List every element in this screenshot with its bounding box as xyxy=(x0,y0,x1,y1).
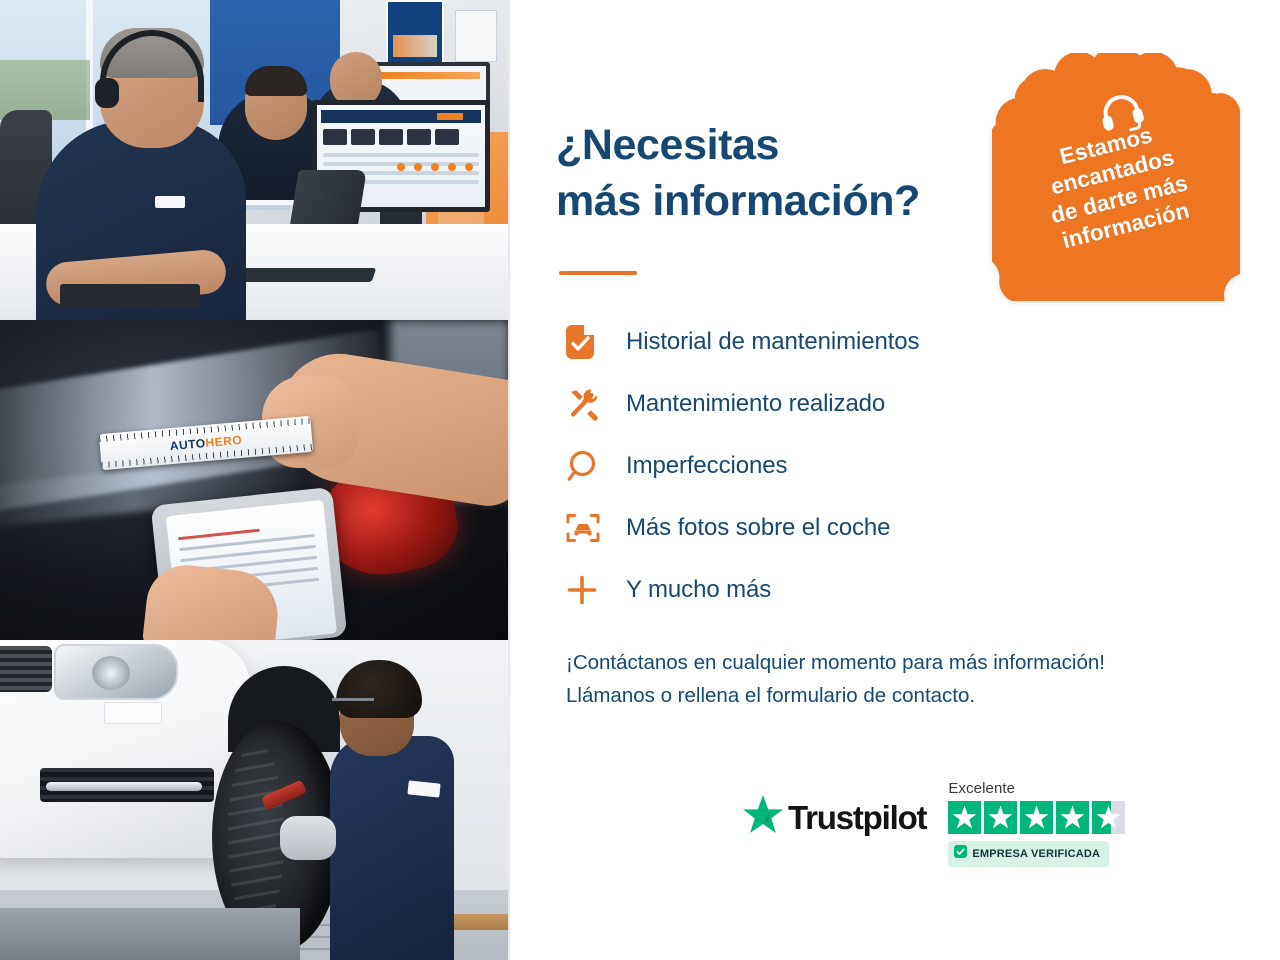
rating-label: Excelente xyxy=(948,780,1015,797)
technician-glasses xyxy=(332,698,374,701)
feature-label: Historial de mantenimientos xyxy=(626,328,919,356)
feature-list: Historial de mantenimientos Mantenimient… xyxy=(566,311,1280,621)
feature-item-maintenance-history: Historial de mantenimientos xyxy=(566,311,1280,373)
feature-item-imperfections: Imperfecciones xyxy=(566,435,1280,497)
photo-car-inspection-ruler: AUTOHERO xyxy=(0,320,510,640)
feature-label: Y mucho más xyxy=(626,576,771,604)
page-title-line-2: más información? xyxy=(556,177,920,225)
trustpilot-wordmark: Trustpilot xyxy=(788,799,926,837)
page-title: ¿Necesitas más información? xyxy=(556,118,996,230)
technician-body xyxy=(330,736,454,960)
trustpilot-logo: Trustpilot xyxy=(742,795,926,840)
screen-icon-row xyxy=(397,163,473,171)
car-headlight xyxy=(54,644,178,700)
car-lift-platform xyxy=(0,908,300,960)
contact-text-line-2: Llámanos o rellena el formulario de cont… xyxy=(566,684,975,707)
wall-poster xyxy=(386,0,444,64)
feature-item-much-more: Y mucho más xyxy=(566,559,1280,621)
wall-notice xyxy=(455,10,497,62)
promo-page: AUTOHERO xyxy=(0,0,1280,960)
contact-text-line-1: ¡Contáctanos en cualquier momento para m… xyxy=(566,651,1105,674)
car-chrome-trim xyxy=(46,782,202,791)
rating-star-5-partial xyxy=(1092,801,1125,834)
star-rating xyxy=(948,801,1125,834)
check-circle-icon xyxy=(954,845,967,863)
starburst-badge: Estamos encantados de darte más informac… xyxy=(992,53,1240,300)
rating-star-3 xyxy=(1020,801,1053,834)
feature-label: Mantenimiento realizado xyxy=(626,390,885,418)
verified-company-label: EMPRESA VERIFICADA xyxy=(972,848,1100,860)
contact-text: ¡Contáctanos en cualquier momento para m… xyxy=(566,646,1280,712)
rating-star-2 xyxy=(984,801,1017,834)
desk-tablet xyxy=(60,284,200,308)
feature-label: Más fotos sobre el coche xyxy=(626,514,890,542)
trustpilot-widget[interactable]: Trustpilot Excelente xyxy=(742,780,1125,867)
rating-star-4 xyxy=(1056,801,1089,834)
car-plate xyxy=(104,702,162,724)
laptop-keyboard xyxy=(230,268,377,282)
car-focus-icon xyxy=(566,508,612,548)
screen-car-thumbnails xyxy=(323,129,459,145)
content-panel: ¿Necesitas más información? Historial de… xyxy=(510,0,1280,960)
magnifier-icon xyxy=(566,446,612,486)
photo-column: AUTOHERO xyxy=(0,0,510,960)
photo-workshop-wheel-change xyxy=(0,640,510,960)
screen-navbar xyxy=(321,110,481,123)
page-title-line-1: ¿Necesitas xyxy=(556,121,779,169)
agent-one-headset-earcup xyxy=(95,78,119,108)
rating-star-1 xyxy=(948,801,981,834)
tools-icon xyxy=(566,384,612,424)
agent-one-name-badge xyxy=(155,196,185,208)
trustpilot-star-icon xyxy=(742,795,784,840)
feature-item-more-photos: Más fotos sobre el coche xyxy=(566,497,1280,559)
document-check-icon xyxy=(566,322,612,362)
title-divider xyxy=(559,271,637,275)
photo-call-center-agents xyxy=(0,0,510,320)
car-grille xyxy=(0,646,52,692)
technician-glove xyxy=(280,816,336,860)
autohero-logo-auto: AUTO xyxy=(169,436,206,453)
feature-item-maintenance-done: Mantenimiento realizado xyxy=(566,373,1280,435)
plus-icon xyxy=(566,570,612,610)
feature-label: Imperfecciones xyxy=(626,452,787,480)
verified-company-badge: EMPRESA VERIFICADA xyxy=(948,841,1109,867)
autohero-logo-hero: HERO xyxy=(205,433,243,450)
trustpilot-rating: Excelente xyxy=(948,780,1125,867)
agent-two-hair xyxy=(245,66,307,96)
